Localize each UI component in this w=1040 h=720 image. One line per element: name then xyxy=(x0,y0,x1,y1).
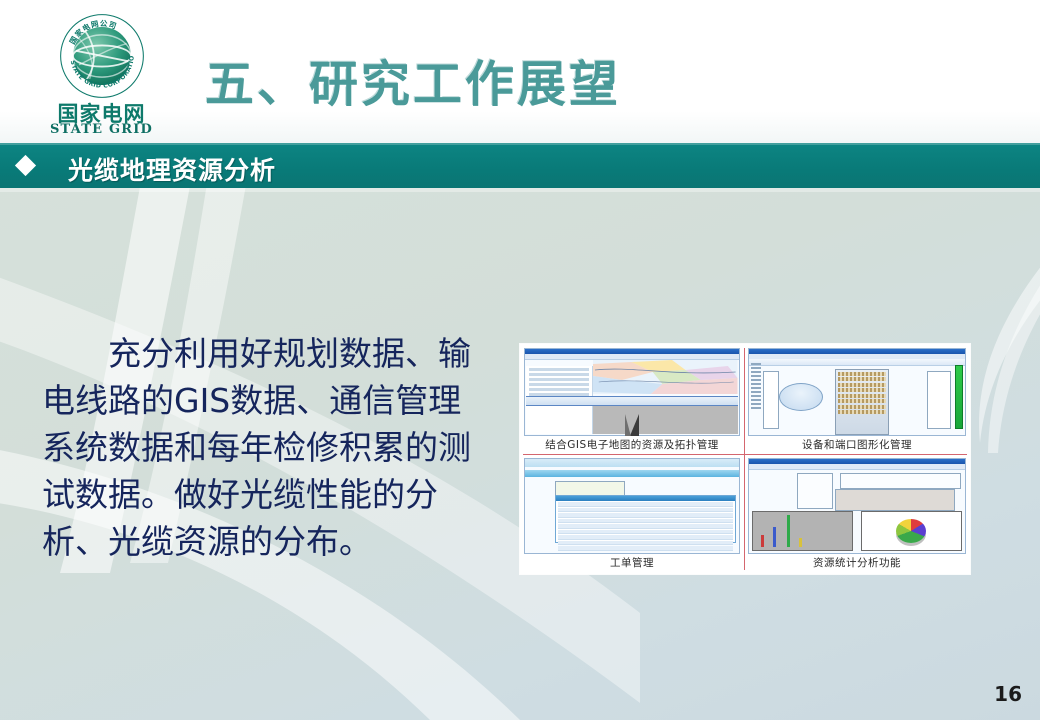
statistics-bar-chart xyxy=(752,511,853,551)
work-order-screenshot xyxy=(524,458,740,554)
collage-horizontal-divider xyxy=(523,454,967,455)
device-toolbar xyxy=(749,359,965,366)
panel-caption: 资源统计分析功能 xyxy=(748,555,966,570)
device-list-right xyxy=(927,371,951,429)
workorder-table-header xyxy=(556,496,735,501)
gis-map-screenshot xyxy=(524,348,740,436)
state-grid-logo: 国家电网公司 STATE GRID CORPORATION OF CHINA 国… xyxy=(34,12,169,134)
pie-chart-plot xyxy=(896,519,926,543)
gis-window xyxy=(524,348,740,436)
collage-panel-statistics: 资源统计分析功能 xyxy=(748,458,966,570)
workorder-tabbar xyxy=(525,470,739,477)
globe-icon: 国家电网公司 STATE GRID CORPORATION OF CHINA xyxy=(58,12,146,100)
collage-vertical-divider xyxy=(744,348,745,570)
gis-detail-canvas xyxy=(593,406,738,434)
panel-caption: 工单管理 xyxy=(524,555,740,570)
gis-map-canvas xyxy=(593,360,738,394)
device-oval-icon xyxy=(779,383,823,411)
collage-panel-gis-map: 结合GIS电子地图的资源及拓扑管理 xyxy=(524,348,740,452)
statistics-tree xyxy=(797,473,834,509)
section-title: 光缆地理资源分析 xyxy=(68,151,276,187)
statistics-screenshot xyxy=(748,458,966,554)
diamond-bullet-icon xyxy=(15,155,36,176)
statistics-window xyxy=(748,458,966,554)
body-paragraph: 充分利用好规划数据、输电线路的GIS数据、通信管理系统数据和每年检修积累的测试数… xyxy=(42,330,482,565)
statistics-menubar xyxy=(749,464,965,470)
screenshot-collage: 结合GIS电子地图的资源及拓扑管理 xyxy=(520,344,970,574)
panel-caption: 设备和端口图形化管理 xyxy=(748,437,966,452)
logo-name-en: STATE GRID xyxy=(34,122,169,137)
page-number: 16 xyxy=(994,682,1022,706)
page-title: 五、研究工作展望 xyxy=(205,45,621,116)
gis-selection-strip xyxy=(526,396,738,406)
statistics-result-box xyxy=(835,489,955,511)
workorder-header xyxy=(525,459,739,467)
device-status-bar xyxy=(955,365,963,429)
device-list-left xyxy=(763,371,779,429)
section-bar-highlight xyxy=(0,143,1040,145)
collage-panel-work-order: 工单管理 xyxy=(524,458,740,570)
presentation-slide: 国家电网公司 STATE GRID CORPORATION OF CHINA 国… xyxy=(0,0,1040,720)
device-ruler xyxy=(751,363,761,431)
device-port-screenshot xyxy=(748,348,966,436)
device-window xyxy=(748,348,966,436)
collage-panel-device-port: 设备和端口图形化管理 xyxy=(748,348,966,452)
section-header-bar: 光缆地理资源分析 xyxy=(0,143,1040,188)
gis-cone-shade xyxy=(625,414,634,436)
statistics-form-top xyxy=(840,473,961,489)
workorder-window xyxy=(524,458,740,554)
workorder-table xyxy=(555,495,736,543)
bar-chart-plot xyxy=(753,512,852,550)
statistics-pie-chart xyxy=(861,511,962,551)
section-bar-underline xyxy=(0,188,1040,192)
device-rack-graphic xyxy=(835,369,889,435)
slide-header: 国家电网公司 STATE GRID CORPORATION OF CHINA 国… xyxy=(0,0,1040,143)
panel-caption: 结合GIS电子地图的资源及拓扑管理 xyxy=(524,437,740,452)
